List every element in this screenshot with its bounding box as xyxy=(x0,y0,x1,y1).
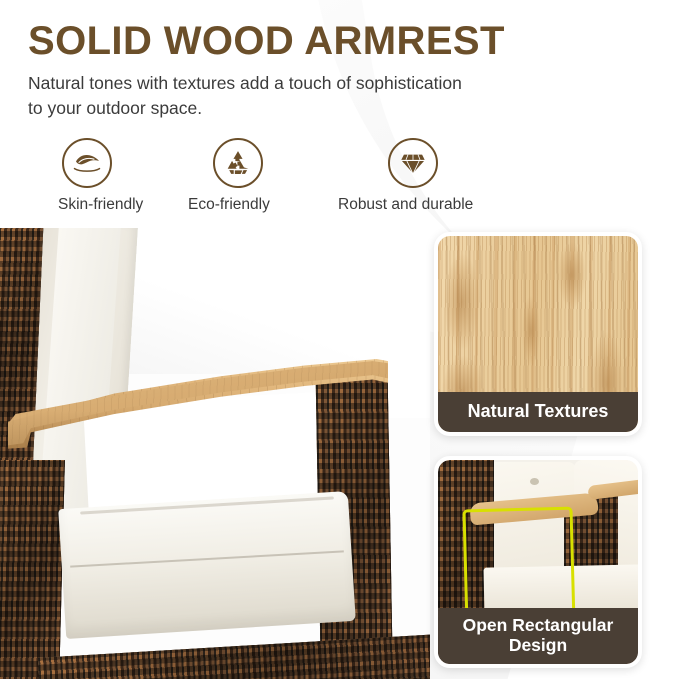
feature-item-robust-durable: Robust and durable xyxy=(338,138,473,214)
feature-item-skin-friendly: Skin-friendly xyxy=(58,138,143,214)
page-subtitle: Natural tones with textures add a touch … xyxy=(28,71,508,121)
subtitle-line-1: Natural tones with textures add a touch … xyxy=(28,71,508,96)
solid-wood-armrest xyxy=(8,346,388,454)
chair-front-rail xyxy=(38,634,430,679)
hero-product-photo xyxy=(0,228,430,679)
hero-photo-content xyxy=(0,228,430,679)
feature-badge-circle xyxy=(213,138,263,188)
cushion-tuft-button xyxy=(530,478,539,485)
hand-feather-icon xyxy=(72,150,102,176)
feature-item-eco-friendly: Eco-friendly xyxy=(188,138,270,214)
panel-caption-line-1: Open Rectangular xyxy=(444,615,632,635)
feature-label: Eco-friendly xyxy=(188,196,270,214)
page-title: SOLID WOOD ARMREST xyxy=(28,18,588,64)
infographic-page: SOLID WOOD ARMREST Natural tones with te… xyxy=(0,0,679,679)
feature-label: Robust and durable xyxy=(338,196,473,214)
panel-caption-line-2: Design xyxy=(444,635,632,655)
armrest-shading xyxy=(8,346,388,454)
feature-badge-circle xyxy=(388,138,438,188)
panel-caption-line-1: Natural Textures xyxy=(444,401,632,421)
photo-backdrop-right xyxy=(382,228,430,418)
feature-badge-circle xyxy=(62,138,112,188)
wood-knot xyxy=(522,296,540,366)
natural-textures-panel[interactable]: Natural Textures xyxy=(434,232,642,436)
chair-leg-left xyxy=(0,460,65,679)
diamond-icon xyxy=(398,150,428,176)
panel-caption: Open Rectangular Design xyxy=(438,608,638,664)
header-block: SOLID WOOD ARMREST Natural tones with te… xyxy=(28,18,588,121)
wood-knot xyxy=(558,242,586,308)
recycle-icon xyxy=(224,149,252,177)
wood-knot xyxy=(444,254,480,350)
panel-caption: Natural Textures xyxy=(438,392,638,432)
open-rectangular-design-panel[interactable]: Open Rectangular Design xyxy=(434,456,642,668)
subtitle-line-2: to your outdoor space. xyxy=(28,96,508,121)
feature-badge-list: Skin-friendly xyxy=(28,138,548,218)
feature-label: Skin-friendly xyxy=(58,196,143,214)
